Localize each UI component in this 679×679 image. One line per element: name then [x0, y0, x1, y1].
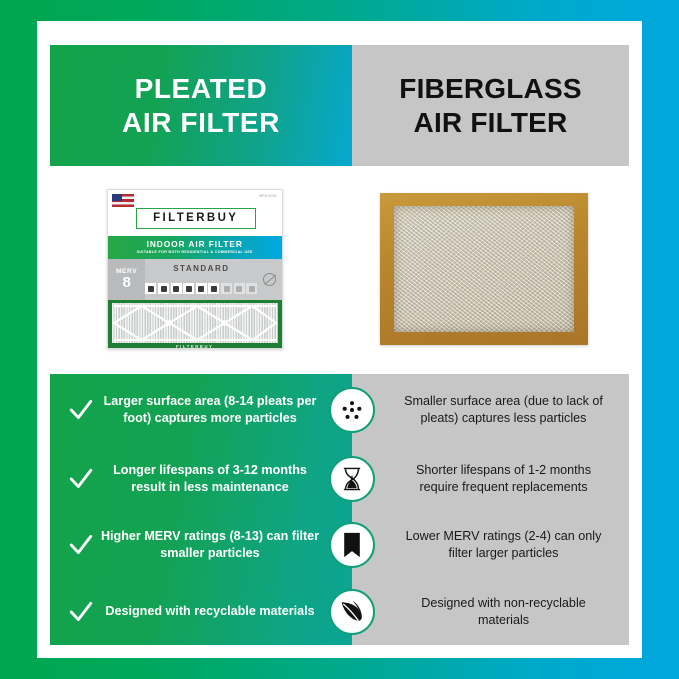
filterbuy-logo: FILTERBUY — [136, 208, 256, 229]
merv-badge: MERV 8 — [108, 259, 146, 300]
table-row: Designed with recyclable materials Desig… — [50, 578, 629, 645]
check-icon — [68, 466, 94, 492]
grade-and-icons: STANDARD — [145, 259, 257, 300]
header-fiberglass-title: FIBERGLASS AIR FILTER — [399, 72, 581, 138]
capture-icon-pet-dander — [196, 283, 207, 294]
header-pleated-title: PLEATED AIR FILTER — [122, 72, 280, 138]
header-fiberglass-line2: AIR FILTER — [399, 106, 581, 139]
capture-icon-odor — [246, 283, 257, 294]
capture-icons-row — [145, 278, 257, 300]
fiberglass-media-texture — [394, 206, 574, 332]
hourglass-icon — [340, 466, 364, 492]
filterbuy-wordmark: FILTERBUY — [153, 212, 238, 224]
check-icon — [68, 397, 94, 423]
capture-icon-smoke — [221, 283, 232, 294]
fiberglass-filter-image — [380, 193, 588, 345]
capture-icon-virus — [234, 283, 245, 294]
grade-label: STANDARD — [173, 264, 229, 273]
product-images-band: MPN 0000 FILTERBUY INDOOR AIR FILTER SUI… — [50, 166, 629, 371]
pleated-sku-code: MPN 0000 — [259, 194, 277, 198]
row-2-right: Shorter lifespans of 1-2 months require … — [352, 462, 629, 496]
bookmark-icon — [341, 532, 363, 558]
column-headers: PLEATED AIR FILTER FIBERGLASS AIR FILTER — [50, 45, 629, 166]
grade-row: STANDARD — [145, 259, 257, 278]
check-icon — [68, 599, 94, 625]
merv-spec-bar: MERV 8 STANDARD — [108, 259, 282, 300]
banner-subtitle: SUITABLE FOR BOTH RESIDENTIAL & COMMERCI… — [108, 250, 282, 254]
fiberglass-product-cell — [340, 166, 630, 371]
comparison-rows: Larger surface area (8-14 pleats per foo… — [50, 374, 629, 645]
row-1-left-text: Larger surface area (8-14 pleats per foo… — [100, 393, 320, 426]
capture-icon-pollen — [171, 283, 182, 294]
pleated-filter-image: MPN 0000 FILTERBUY INDOOR AIR FILTER SUI… — [107, 189, 283, 349]
row-4-left: Designed with recyclable materials — [50, 599, 352, 625]
header-pleated: PLEATED AIR FILTER — [50, 45, 352, 166]
indoor-air-filter-banner: INDOOR AIR FILTER SUITABLE FOR BOTH RESI… — [108, 236, 282, 259]
row-4-right: Designed with non-recyclable materials — [352, 595, 629, 629]
leaf-icon — [339, 599, 366, 624]
support-mesh-icon — [112, 303, 278, 343]
capture-icon-mold — [183, 283, 194, 294]
usa-flag-icon — [112, 194, 134, 207]
header-fiberglass: FIBERGLASS AIR FILTER — [352, 45, 629, 166]
table-row: Larger surface area (8-14 pleats per foo… — [50, 374, 629, 446]
row-4-left-text: Designed with recyclable materials — [100, 603, 320, 620]
header-pleated-line2: AIR FILTER — [122, 106, 280, 139]
no-smoke-icon — [263, 273, 276, 286]
row-3-left-text: Higher MERV ratings (8-13) can filter sm… — [100, 528, 320, 561]
row-3-left: Higher MERV ratings (8-13) can filter sm… — [50, 528, 352, 561]
infographic-card: PLEATED AIR FILTER FIBERGLASS AIR FILTER… — [37, 21, 642, 658]
row-1-right: Smaller surface area (due to lack of ple… — [352, 393, 629, 427]
row-1-left: Larger surface area (8-14 pleats per foo… — [50, 393, 352, 426]
pleated-media-area: FILTERBUY — [108, 300, 282, 349]
pleated-product-cell: MPN 0000 FILTERBUY INDOOR AIR FILTER SUI… — [50, 166, 340, 371]
media-footer: FILTERBUY — [108, 343, 282, 349]
pleat-texture — [112, 303, 278, 343]
table-row: Longer lifespans of 3-12 months result i… — [50, 446, 629, 511]
row-3-right: Lower MERV ratings (2-4) can only filter… — [352, 528, 629, 562]
capture-icon-dust — [145, 283, 156, 294]
capture-icon-bacteria — [208, 283, 219, 294]
row-2-badge — [329, 456, 375, 502]
merv-value: 8 — [122, 275, 130, 290]
row-2-left: Longer lifespans of 3-12 months result i… — [50, 462, 352, 495]
header-fiberglass-line1: FIBERGLASS — [399, 72, 581, 105]
check-icon — [68, 532, 94, 558]
capture-icon-lint — [158, 283, 169, 294]
table-row: Higher MERV ratings (8-13) can filter sm… — [50, 511, 629, 578]
header-pleated-line1: PLEATED — [122, 72, 280, 105]
banner-title: INDOOR AIR FILTER — [108, 239, 282, 249]
row-3-badge — [329, 522, 375, 568]
media-footer-brand: FILTERBUY — [176, 344, 214, 349]
row-4-badge — [329, 589, 375, 635]
row-1-badge — [329, 387, 375, 433]
particles-icon — [339, 397, 365, 423]
comparison-section: Larger surface area (8-14 pleats per foo… — [50, 374, 629, 645]
no-smoke-indicator — [257, 259, 282, 300]
row-2-left-text: Longer lifespans of 3-12 months result i… — [100, 462, 320, 495]
